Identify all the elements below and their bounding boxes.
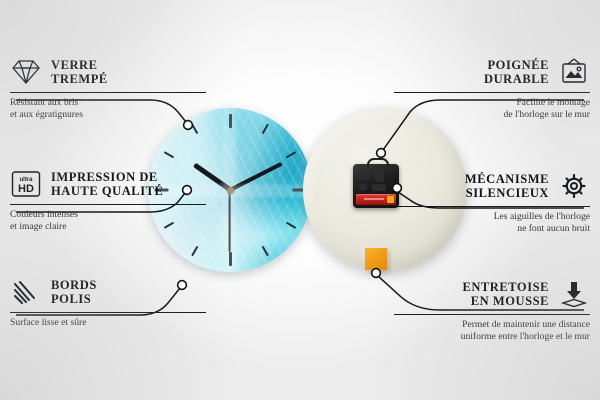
feature-verre-trempe[interactable]: VERRE TREMPÉ Résistant aux bris et aux é… xyxy=(10,56,206,121)
feature-description: Surface lisse et sûre xyxy=(10,317,206,329)
gear-icon xyxy=(558,170,590,202)
feature-poignee-durable[interactable]: POIGNÉE DURABLE Facilite le montage de l… xyxy=(394,56,590,121)
feature-description: Permet de maintenir une distance uniform… xyxy=(394,319,590,342)
feature-header: ENTRETOISE EN MOUSSE xyxy=(394,278,590,310)
feature-title: BORDS POLIS xyxy=(51,278,97,307)
clock-tick xyxy=(286,151,297,158)
feature-header: MÉCANISME SILENCIEUX xyxy=(394,170,590,202)
feature-divider xyxy=(394,314,590,315)
clock-tick xyxy=(262,124,269,135)
svg-text:HD: HD xyxy=(18,183,34,195)
clock-tick xyxy=(191,124,198,135)
clock-tick xyxy=(262,246,269,257)
second-hand xyxy=(229,190,231,252)
leader-dot-6 xyxy=(372,269,381,278)
clock-tick xyxy=(229,114,232,128)
hand-center-cap xyxy=(227,187,234,194)
feature-description: Les aiguilles de l'horloge ne font aucun… xyxy=(394,211,590,234)
movement-detail xyxy=(375,169,384,182)
feature-divider xyxy=(10,92,206,93)
feature-header: VERRE TREMPÉ xyxy=(10,56,206,88)
battery xyxy=(356,194,396,205)
feature-title: POIGNÉE DURABLE xyxy=(484,58,549,87)
clock-tick xyxy=(286,222,297,229)
feature-divider xyxy=(10,312,206,313)
clock-tick xyxy=(292,189,306,192)
clock-tick xyxy=(229,252,232,266)
clock-movement xyxy=(353,164,399,208)
movement-detail xyxy=(359,183,367,191)
ultra-hd-icon: ultra HD xyxy=(10,168,42,200)
feature-header: POIGNÉE DURABLE xyxy=(394,56,590,88)
foam-spacer-icon xyxy=(558,278,590,310)
infographic-stage: VERRE TREMPÉ Résistant aux bris et aux é… xyxy=(0,0,600,400)
feature-description: Résistant aux bris et aux égratignures xyxy=(10,97,206,120)
feature-entretoise-en-mousse[interactable]: ENTRETOISE EN MOUSSE Permet de maintenir… xyxy=(394,278,590,343)
clock-tick xyxy=(191,246,198,257)
movement-detail xyxy=(358,170,371,179)
leader-dot-4 xyxy=(377,149,386,158)
leader-dot-1 xyxy=(184,121,193,130)
feature-title: VERRE TREMPÉ xyxy=(51,58,108,87)
feature-divider xyxy=(10,204,206,205)
movement-detail xyxy=(372,184,386,191)
polished-edges-icon xyxy=(10,276,42,308)
clock-tick xyxy=(164,151,175,158)
foam-spacer xyxy=(365,248,387,270)
feature-title: MÉCANISME SILENCIEUX xyxy=(465,172,549,201)
picture-frame-icon xyxy=(558,56,590,88)
feature-description: Couleurs intenses et image claire xyxy=(10,209,206,232)
feature-header: BORDS POLIS xyxy=(10,276,206,308)
feature-divider xyxy=(394,206,590,207)
feature-divider xyxy=(394,92,590,93)
minute-hand xyxy=(229,162,282,192)
feature-description: Facilite le montage de l'horloge sur le … xyxy=(394,97,590,120)
feature-bords-polis[interactable]: BORDS POLIS Surface lisse et sûre xyxy=(10,276,206,329)
feature-header: ultra HD IMPRESSION DE HAUTE QUALITÉ xyxy=(10,168,206,200)
feature-title: IMPRESSION DE HAUTE QUALITÉ xyxy=(51,170,163,199)
feature-title: ENTRETOISE EN MOUSSE xyxy=(462,280,549,309)
feature-impression-haute-qualite[interactable]: ultra HD IMPRESSION DE HAUTE QUALITÉ Cou… xyxy=(10,168,206,233)
feature-mecanisme-silencieux[interactable]: MÉCANISME SILENCIEUX Les aiguilles de l'… xyxy=(394,170,590,235)
diamond-icon xyxy=(10,56,42,88)
